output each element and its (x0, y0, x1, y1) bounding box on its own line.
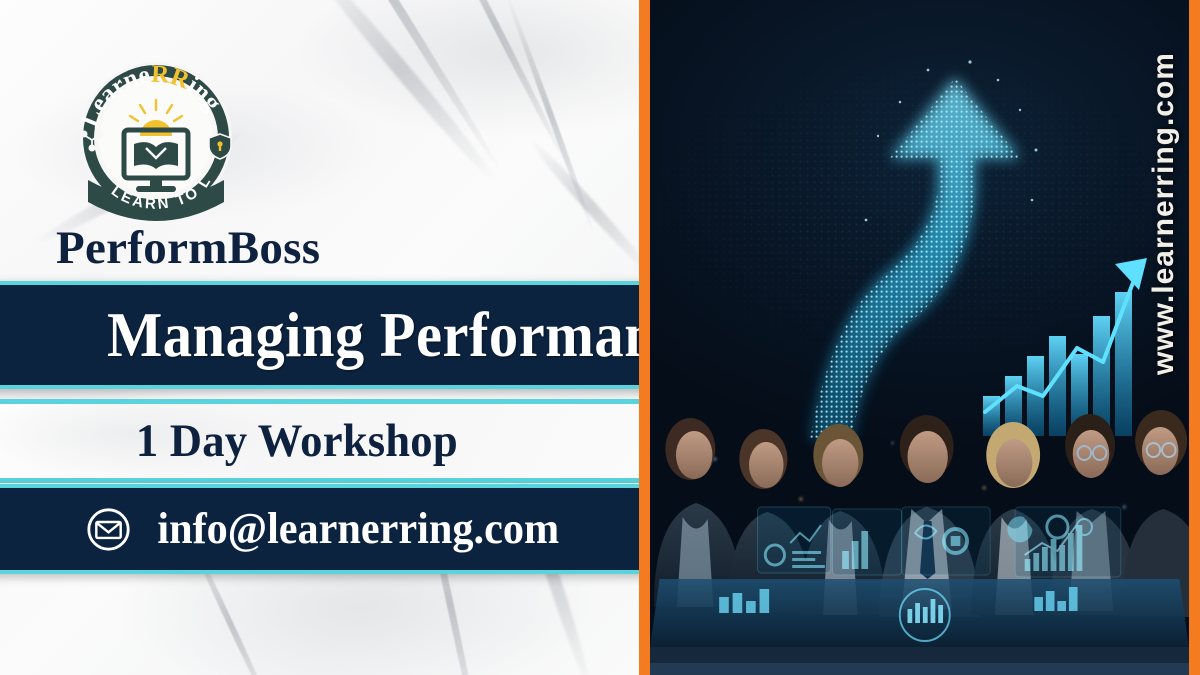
page-title: Managing Performance (88, 304, 710, 367)
contact-banner[interactable]: info@learnerring.com (0, 484, 656, 574)
holographic-table (650, 571, 1189, 667)
shield-lock-icon (209, 134, 231, 159)
logo-badge-svg: LearneRRing (72, 52, 240, 224)
brand-name: PerformBoss (56, 225, 320, 272)
website-url[interactable]: www.learnerring.com (1147, 52, 1181, 375)
envelope-icon (86, 507, 131, 552)
hero-image (650, 0, 1189, 675)
holographic-panel (902, 507, 990, 575)
ascending-bar-chart-icon (981, 236, 1171, 436)
subtitle-banner: 1 Day Workshop (0, 399, 648, 483)
company-logo: LearneRRing (72, 52, 240, 224)
panel-bottom-strip (650, 663, 1189, 675)
holographic-panel (758, 507, 831, 573)
holographic-panel (833, 509, 902, 575)
event-poster: LearneRRing (0, 0, 1200, 675)
hero-image-panel: www.learnerring.com (639, 0, 1200, 675)
contact-email: info@learnerring.com (158, 507, 560, 551)
holographic-panel (1007, 507, 1120, 577)
subtitle-text: 1 Day Workshop (135, 418, 512, 465)
